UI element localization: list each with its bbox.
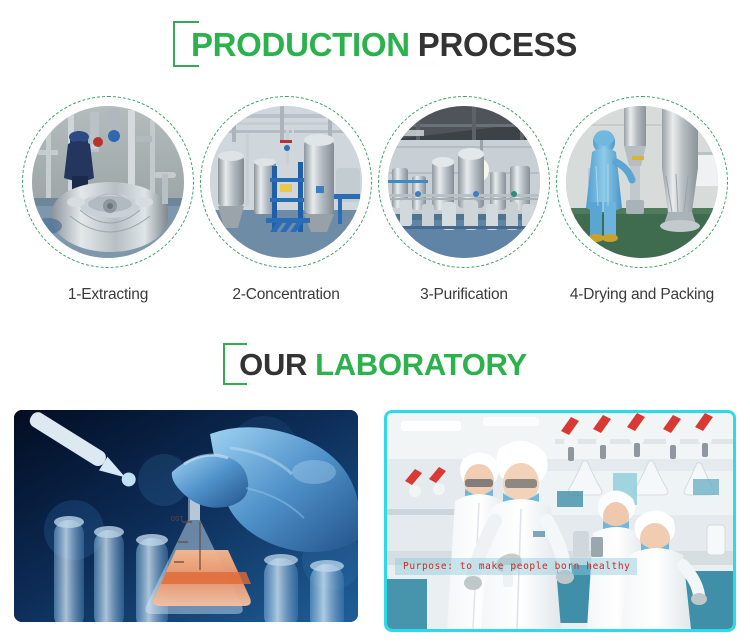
laboratory-photos-row: 100 [0, 410, 750, 642]
process-step-3-label: 3-Purification [420, 286, 508, 304]
our-laboratory-heading: OURLABORATORY [0, 338, 750, 390]
laboratory-heading-text: OURLABORATORY [239, 349, 527, 380]
dashed-circle-ring [22, 96, 194, 268]
process-step-4-image [566, 106, 718, 258]
production-process-heading: PRODUCTIONPROCESS [0, 16, 750, 72]
dashed-circle-ring [556, 96, 728, 268]
production-heading-dark-part: PROCESS [418, 26, 577, 63]
dashed-circle-ring [378, 96, 550, 268]
process-step-4-label: 4-Drying and Packing [570, 286, 714, 304]
process-step-2-label: 2-Concentration [232, 286, 339, 304]
process-step-3-image [388, 106, 540, 258]
dashed-circle-ring [200, 96, 372, 268]
process-step-1-label: 1-Extracting [68, 286, 148, 304]
laboratory-heading-green-part: LABORATORY [315, 347, 527, 382]
lab-photo-technicians[interactable]: Purpose: to make people born healthy [384, 410, 736, 632]
process-step-4-drying-and-packing[interactable]: 4-Drying and Packing [556, 96, 728, 311]
process-step-1-image [32, 106, 184, 258]
laboratory-heading-dark-part: OUR [239, 347, 307, 382]
process-steps-row: 1-Extracting [0, 96, 750, 311]
production-heading-green-part: PRODUCTION [191, 26, 410, 63]
process-step-3-purification[interactable]: 3-Purification [378, 96, 550, 311]
production-heading-text: PRODUCTIONPROCESS [191, 28, 577, 61]
svg-text:100: 100 [171, 514, 184, 522]
purpose-overlay-text: Purpose: to make people born healthy [395, 558, 637, 575]
lab-photo-flask-pipette[interactable]: 100 [14, 410, 358, 622]
process-step-2-image [210, 106, 362, 258]
process-step-1-extracting[interactable]: 1-Extracting [22, 96, 194, 311]
process-step-2-concentration[interactable]: 2-Concentration [200, 96, 372, 311]
